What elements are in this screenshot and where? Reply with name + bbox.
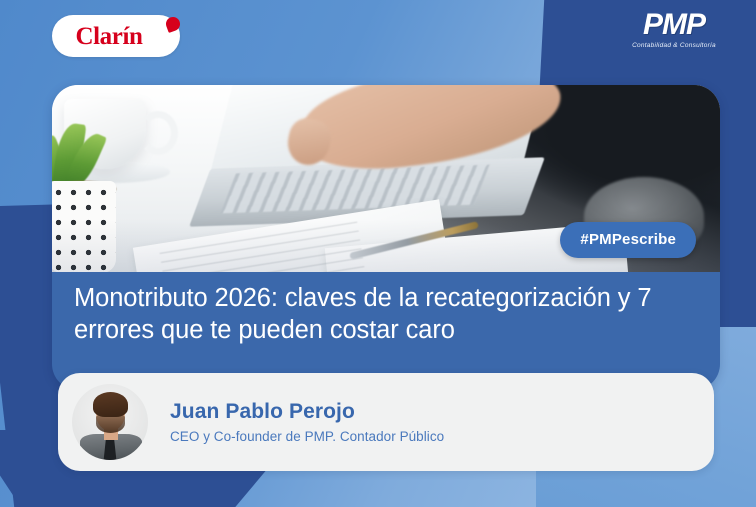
article-headline: Monotributo 2026: claves de la recategor… — [74, 282, 710, 346]
clarin-wordmark: Clarín — [75, 24, 156, 49]
author-role: CEO y Co-founder de PMP. Contador Públic… — [170, 429, 444, 444]
pmp-logo[interactable]: PMP Contabilidad & Consultoría — [620, 10, 728, 49]
pmp-tagline: Contabilidad & Consultoría — [620, 42, 728, 49]
pmp-wordmark: PMP — [620, 10, 728, 41]
author-card[interactable]: Juan Pablo Perojo CEO y Co-founder de PM… — [58, 373, 714, 471]
author-details: Juan Pablo Perojo CEO y Co-founder de PM… — [170, 400, 444, 444]
header-bar: Clarín PMP Contabilidad & Consultoría — [0, 0, 756, 72]
social-card: Clarín PMP Contabilidad & Consultoría — [0, 0, 756, 507]
article-card: #PMPescribe Monotributo 2026: claves de … — [52, 85, 720, 390]
hashtag-badge[interactable]: #PMPescribe — [560, 222, 696, 258]
clarin-logo[interactable]: Clarín — [52, 15, 180, 57]
clarin-dot-icon — [164, 15, 182, 33]
avatar — [72, 384, 148, 460]
author-name: Juan Pablo Perojo — [170, 400, 444, 424]
hero-image: #PMPescribe — [52, 85, 720, 272]
avatar-hair — [93, 392, 128, 417]
